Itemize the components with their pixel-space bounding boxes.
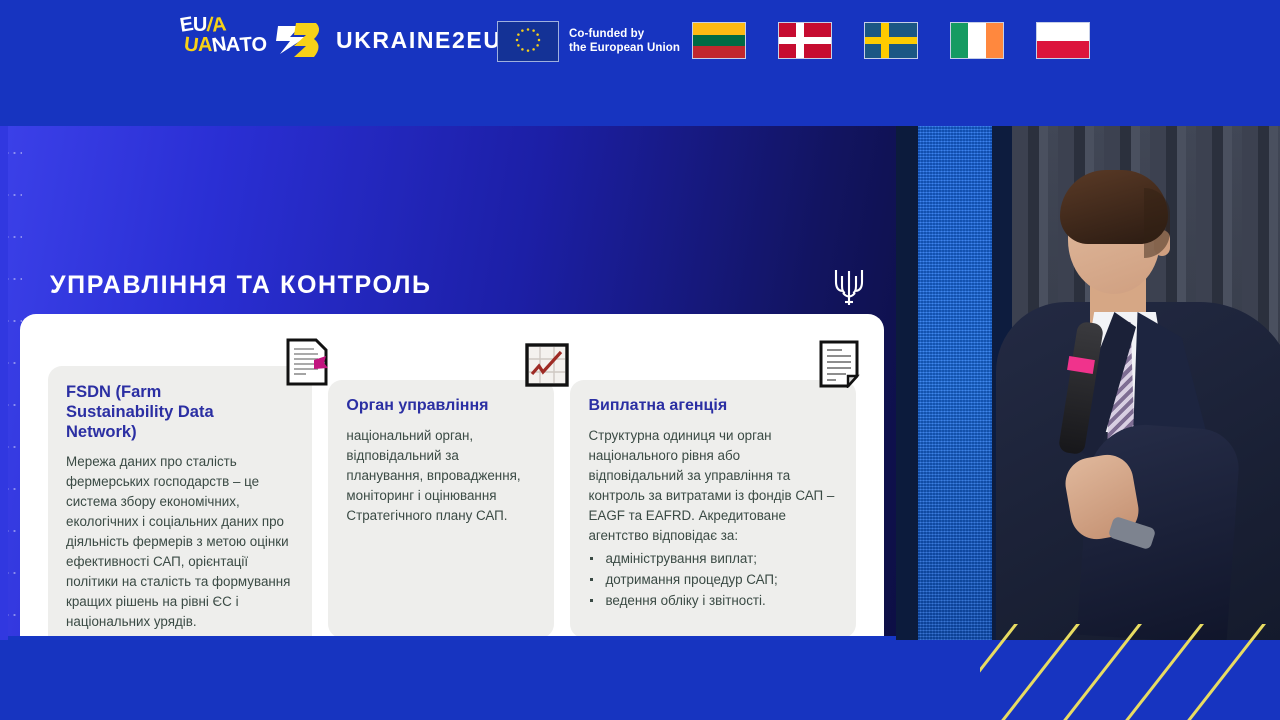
eu-flag-icon xyxy=(497,21,559,62)
ukraine2eu-wordmark: UKRAINE2EU xyxy=(336,27,502,54)
card-body: Структурна одиниця чи орган національног… xyxy=(588,426,838,546)
flag-ireland xyxy=(950,22,1004,59)
card-title: Виплатна агенція xyxy=(588,396,838,416)
eu-ua-nato-logo: EU/A UANATO xyxy=(178,12,244,68)
info-card-managing-authority[interactable]: Орган управління національний орган, від… xyxy=(328,380,554,636)
decorative-stripes xyxy=(980,624,1280,720)
chart-growth-icon xyxy=(524,342,570,390)
cofunded-text: Co-funded by the European Union xyxy=(569,27,680,55)
ukraine2eu-logo: UKRAINE2EU xyxy=(276,20,502,60)
card-title: Орган управління xyxy=(346,396,536,416)
speaker-hair xyxy=(1060,170,1168,244)
cofunded-line2: the European Union xyxy=(569,41,680,55)
led-wall-left-edge xyxy=(896,126,918,640)
info-card-fsdn[interactable]: FSDN (Farm Sustainability Data Network) … xyxy=(48,366,312,636)
card-body: національний орган, відповідальний за пл… xyxy=(346,426,536,526)
eu-ua-nato-line2: UANATO xyxy=(184,34,267,57)
flag-poland xyxy=(1036,22,1090,59)
flag-sweden xyxy=(864,22,918,59)
presentation-slide: УПРАВЛІННЯ ТА КОНТРОЛЬ xyxy=(8,126,896,636)
flag-lithuania xyxy=(692,22,746,59)
info-cards: FSDN (Farm Sustainability Data Network) … xyxy=(48,376,856,636)
bottom-banner xyxy=(0,640,1280,720)
card-body: Мережа даних про сталість фермерських го… xyxy=(66,452,294,632)
cofunded-by-eu-logo: Co-funded by the European Union xyxy=(497,22,680,60)
list-item: адміністрування виплат; xyxy=(588,548,838,569)
list-item: дотримання процедур САП; xyxy=(588,569,838,590)
card-title: FSDN (Farm Sustainability Data Network) xyxy=(66,382,294,442)
top-banner: EU/A UANATO UKRAINE2EU xyxy=(0,0,1280,126)
ukraine-trident-icon xyxy=(832,264,866,310)
page-document-icon xyxy=(816,340,862,388)
logo-strip: EU/A UANATO UKRAINE2EU xyxy=(0,0,1280,80)
partner-flags xyxy=(692,22,1090,62)
slide-left-edge xyxy=(0,126,8,640)
document-bookmark-icon xyxy=(284,338,330,386)
stage-video-region xyxy=(896,126,1280,640)
card-bullet-list: адміністрування виплат; дотримання проце… xyxy=(588,548,838,611)
list-item: ведення обліку і звітності. xyxy=(588,590,838,611)
slide-content-panel: FSDN (Farm Sustainability Data Network) … xyxy=(20,314,884,636)
info-card-paying-agency[interactable]: Виплатна агенція Структурна одиниця чи о… xyxy=(570,380,856,636)
cofunded-line1: Co-funded by xyxy=(569,27,680,41)
slide-title: УПРАВЛІННЯ ТА КОНТРОЛЬ xyxy=(50,271,432,300)
lightning-bolt-icon xyxy=(276,20,324,60)
speaker xyxy=(1012,126,1280,640)
flag-denmark xyxy=(778,22,832,59)
